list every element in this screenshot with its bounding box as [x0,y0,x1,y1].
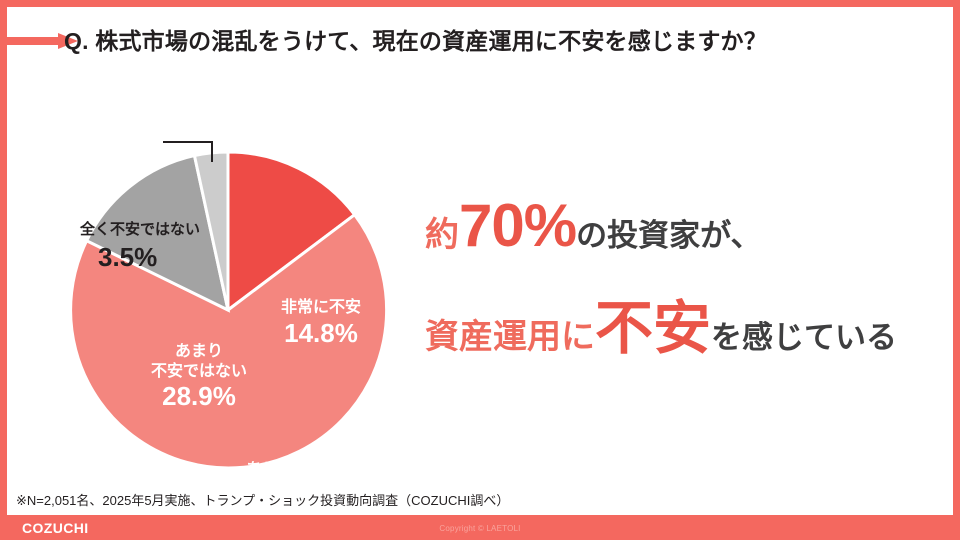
slide-root: Q. 株式市場の混乱をうけて、現在の資産運用に不安を感じますか？ 全く不安ではな… [0,0,960,540]
headline-block: 約70%の投資家が、 資産運用に不安を感じている [425,196,945,358]
slice-label-not-very-anxious-name-1: あまり [124,342,274,362]
slice-label-somewhat-anxious-name: ある程度不安 [214,460,374,480]
headline-line-2: 資産運用に不安を感じている [425,300,945,358]
footer-copyright: Copyright © LAETOLI [0,524,960,533]
slice-label-very-anxious-name: 非常に不安 [256,298,386,318]
slice-label-not-very-anxious-name-2: 不安ではない [124,362,274,382]
slice-label-very-anxious: 非常に不安 14.8% [256,298,386,349]
frame-border-left [0,0,7,540]
footnote: ※N=2,051名、2025年5月実施、トランプ・ショック投資動向調査（COZU… [16,490,509,509]
headline-anxiety-emphasis: 不安 [595,296,711,361]
headline-approx-prefix: 約 [425,216,459,254]
page-title: Q. 株式市場の混乱をうけて、現在の資産運用に不安を感じますか？ [64,22,767,56]
headline-investors-suffix: の投資家が、 [576,218,761,253]
callout-label-not-anxious-at-all: 全く不安ではない [80,218,200,239]
headline-line-1: 約70%の投資家が、 [425,196,945,256]
slice-label-very-anxious-value: 14.8% [256,318,386,350]
pie-chart: 全く不安ではない 3.5% 非常に不安 14.8% ある程度不安 52.9% あ… [38,120,438,490]
headline-asset-management-prefix: 資産運用に [425,318,595,356]
frame-border-right [953,0,960,540]
slice-label-not-very-anxious: あまり 不安ではない 28.9% [124,342,274,413]
headline-feeling-suffix: を感じている [711,320,897,355]
slice-label-not-very-anxious-value: 28.9% [124,381,274,413]
frame-border-top [0,0,960,7]
headline-percent-number: 70% [459,192,576,259]
callout-value-not-anxious-at-all: 3.5% [98,242,157,273]
